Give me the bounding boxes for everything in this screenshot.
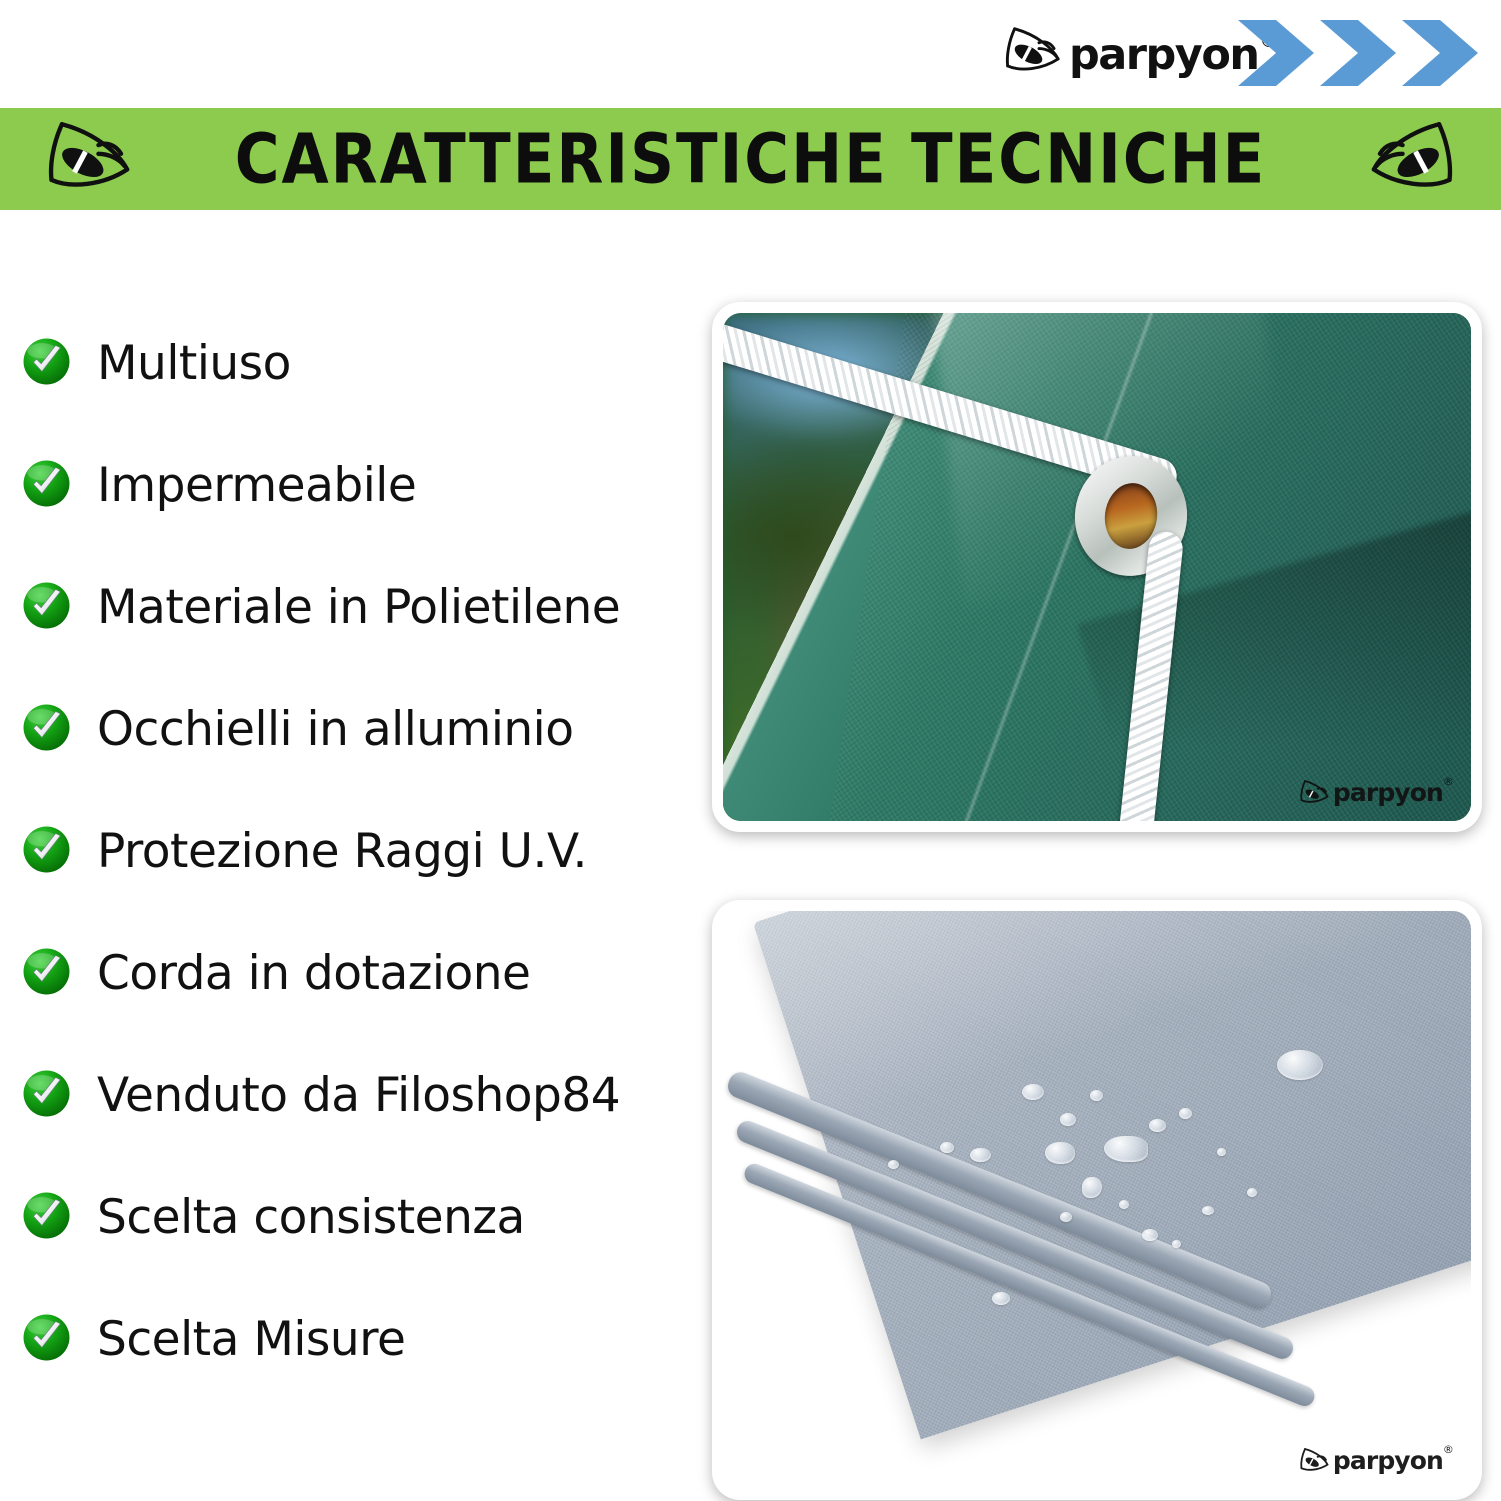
list-item: Scelta Misure (0, 1278, 700, 1400)
feature-list: Multiuso Impermeabile Materiale in Polie… (0, 210, 700, 1501)
water-droplet (1142, 1229, 1158, 1241)
watermark-text: parpyon® (1333, 778, 1453, 807)
water-droplet (1104, 1136, 1148, 1162)
list-item-label: Impermeabile (97, 462, 416, 509)
list-item-label: Venduto da Filoshop84 (97, 1072, 620, 1119)
photo-inner: parpyon® (723, 313, 1471, 821)
water-droplet (1060, 1212, 1072, 1222)
content-area: Multiuso Impermeabile Materiale in Polie… (0, 210, 1501, 1501)
water-droplet (1217, 1148, 1226, 1156)
photo-inner: parpyon® (723, 911, 1471, 1489)
water-droplet (1090, 1090, 1103, 1101)
page-title: CARATTERISTICHE TECNICHE (235, 125, 1267, 193)
dragonfly-icon (1367, 119, 1459, 199)
green-check-circle-icon (22, 581, 71, 630)
dragonfly-icon (1299, 779, 1329, 807)
list-item-label: Scelta Misure (97, 1316, 405, 1363)
green-check-circle-icon (22, 459, 71, 508)
brand-logo: parpyon® (1003, 20, 1277, 84)
fabric-scene (723, 911, 1471, 1489)
waterproof-fabric-photo: parpyon® (712, 900, 1482, 1500)
infographic-page: parpyon® CARATTERISTICHE TECNICHE (0, 0, 1501, 1501)
green-check-circle-icon (22, 337, 71, 386)
list-item: Scelta consistenza (0, 1156, 700, 1278)
chevron-right-icon (1402, 20, 1478, 86)
dragonfly-icon (1299, 1447, 1329, 1475)
list-item-label: Scelta consistenza (97, 1194, 525, 1241)
water-droplet (1179, 1108, 1192, 1119)
list-item-label: Corda in dotazione (97, 950, 530, 997)
water-droplet (970, 1148, 991, 1162)
registered-mark: ® (1443, 1443, 1453, 1456)
list-item-label: Occhielli in alluminio (97, 706, 574, 753)
list-item: Occhielli in alluminio (0, 668, 700, 790)
water-droplet (1277, 1050, 1323, 1080)
dragonfly-icon (1003, 25, 1061, 79)
list-item: Protezione Raggi U.V. (0, 790, 700, 912)
list-item-label: Protezione Raggi U.V. (97, 828, 587, 875)
chevron-arrows-group (1238, 18, 1488, 88)
photo-watermark: parpyon® (1299, 778, 1453, 807)
water-droplet (1045, 1142, 1075, 1164)
product-photo-column: parpyon® (700, 210, 1501, 1501)
registered-mark: ® (1443, 775, 1453, 788)
photo-watermark: parpyon® (1299, 1446, 1453, 1475)
green-check-circle-icon (22, 1313, 71, 1362)
list-item: Venduto da Filoshop84 (0, 1034, 700, 1156)
green-check-circle-icon (22, 1069, 71, 1118)
water-droplet (888, 1160, 899, 1169)
green-check-circle-icon (22, 1191, 71, 1240)
dragonfly-icon (42, 119, 134, 199)
list-item: Corda in dotazione (0, 912, 700, 1034)
list-item-label: Materiale in Polietilene (97, 584, 620, 631)
chevron-right-icon (1238, 20, 1314, 86)
water-droplet (1060, 1113, 1076, 1126)
watermark-text: parpyon® (1333, 1446, 1453, 1475)
tarp-scene (723, 313, 1471, 821)
green-check-circle-icon (22, 947, 71, 996)
tarp-eyelet-rope-photo: parpyon® (712, 302, 1482, 832)
list-item: Impermeabile (0, 424, 700, 546)
list-item-label: Multiuso (97, 340, 291, 387)
chevron-right-icon (1320, 20, 1396, 86)
list-item: Materiale in Polietilene (0, 546, 700, 668)
section-banner: CARATTERISTICHE TECNICHE (0, 108, 1501, 210)
list-item: Multiuso (0, 302, 700, 424)
green-check-circle-icon (22, 825, 71, 874)
page-header: parpyon® (0, 0, 1501, 108)
water-droplet (1202, 1206, 1214, 1215)
green-check-circle-icon (22, 703, 71, 752)
